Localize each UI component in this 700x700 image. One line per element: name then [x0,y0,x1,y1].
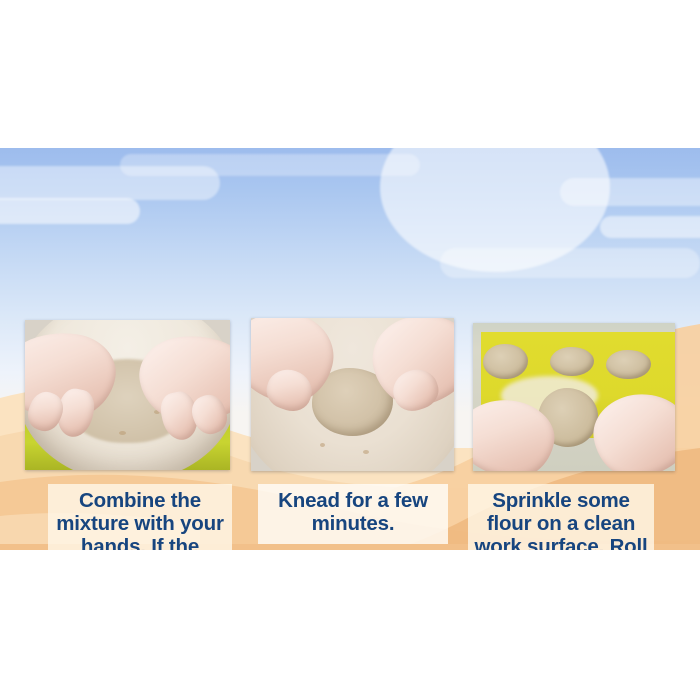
photo-knead-dough [251,318,454,471]
photo-inner [473,323,675,471]
flour-fleck [363,450,369,454]
photo-flatten-dough [473,323,675,471]
dough-patty [606,350,650,380]
caption-sprinkle: Sprinkle some flour on a clean work surf… [468,484,654,550]
dough-patty [483,344,527,380]
slide-stage: Combine the mixture with your hands. If … [0,148,700,550]
caption-combine: Combine the mixture with your hands. If … [48,484,232,550]
photo-combine-mixture [25,320,230,470]
caption-knead: Knead for a few minutes. [258,484,448,544]
photo-inner [25,320,230,470]
photo-inner [251,318,454,471]
